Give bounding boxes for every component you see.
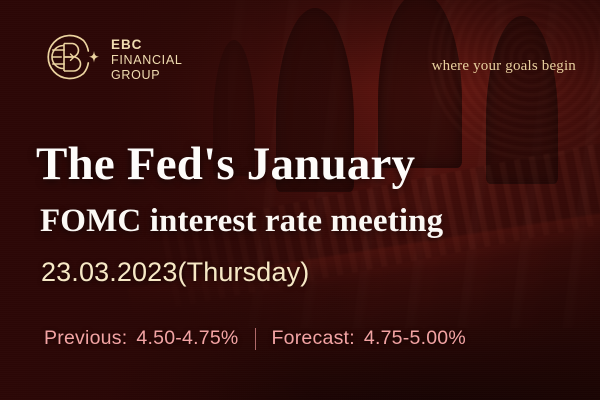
banner-headline: The Fed's January [36,141,415,188]
banner-header: EBC FINANCIAL GROUP where your goals beg… [34,30,576,92]
sparkle-icon [89,51,99,63]
ebc-circular-monogram-icon [34,30,100,90]
previous-rate-label: Previous: [44,327,127,350]
rate-statistics: Previous: 4.50-4.75% Forecast: 4.75-5.00… [44,327,466,350]
brand-name-line-1: EBC [111,37,182,53]
previous-rate-value: 4.50-4.75% [136,327,238,350]
banner-subheadline: FOMC interest rate meeting [40,205,443,238]
event-date: 23.03.2023(Thursday) [41,257,309,288]
brand-name-line-3: GROUP [111,68,182,83]
stats-divider [255,328,256,350]
forecast-rate-value: 4.75-5.00% [364,327,466,350]
brand-name-line-2: FINANCIAL [111,53,182,68]
banner-content: EBC FINANCIAL GROUP where your goals beg… [0,0,600,400]
brand-tagline: where your goals begin [432,58,576,75]
brand-logo-lockup: EBC FINANCIAL GROUP [34,30,182,90]
forecast-rate-label: Forecast: [271,327,354,350]
fomc-announcement-banner: EBC FINANCIAL GROUP where your goals beg… [0,0,600,400]
brand-wordmark: EBC FINANCIAL GROUP [111,37,182,82]
